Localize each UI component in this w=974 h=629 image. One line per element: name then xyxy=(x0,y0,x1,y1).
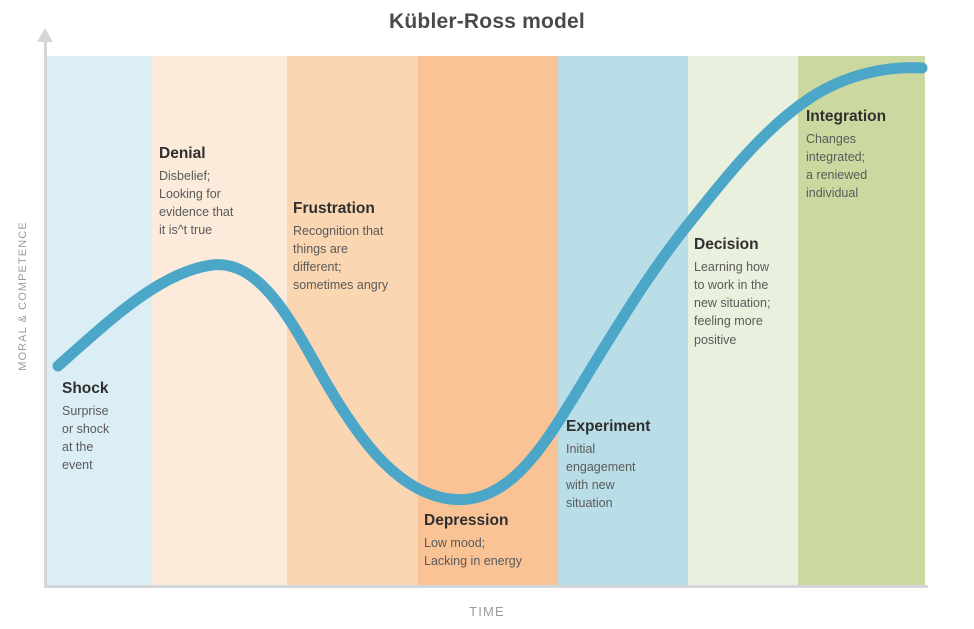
desc-line: or shock xyxy=(62,422,109,436)
desc-line: a reniewed xyxy=(806,168,867,182)
stage-block-depression: Depression Low mood; Lacking in energy xyxy=(424,512,559,570)
desc-line: different; xyxy=(293,260,341,274)
x-axis-line xyxy=(44,585,928,588)
stage-desc-depression: Low mood; Lacking in energy xyxy=(424,534,559,571)
stage-desc-denial: Disbelief; Looking for evidence that it … xyxy=(159,167,284,240)
desc-line: new situation; xyxy=(694,296,770,310)
kubler-ross-diagram: Kübler-Ross model MORAL & COMPETENCE TIM… xyxy=(0,0,974,629)
desc-line: situation xyxy=(566,496,613,510)
stage-heading-integration: Integration xyxy=(806,108,916,127)
desc-line: things are xyxy=(293,242,348,256)
stage-block-decision: Decision Learning how to work in the new… xyxy=(694,236,799,349)
stage-heading-denial: Denial xyxy=(159,145,284,164)
stage-desc-decision: Learning how to work in the new situatio… xyxy=(694,258,799,349)
stage-block-experiment: Experiment Initial engagement with new s… xyxy=(566,418,681,513)
y-axis-line xyxy=(44,40,47,588)
desc-line: Disbelief; xyxy=(159,169,210,183)
stage-heading-shock: Shock xyxy=(62,380,147,399)
desc-line: integrated; xyxy=(806,150,865,164)
desc-line: Surprise xyxy=(62,404,109,418)
desc-line: Lacking in energy xyxy=(424,554,522,568)
band-shock xyxy=(47,56,152,585)
desc-line: individual xyxy=(806,186,858,200)
y-axis-arrow-icon xyxy=(37,28,53,42)
desc-line: Learning how xyxy=(694,260,769,274)
stage-block-denial: Denial Disbelief; Looking for evidence t… xyxy=(159,145,284,240)
desc-line: it is^t true xyxy=(159,223,212,237)
stage-block-integration: Integration Changes integrated; a reniew… xyxy=(806,108,916,203)
stage-block-shock: Shock Surprise or shock at the event xyxy=(62,380,147,475)
stage-heading-depression: Depression xyxy=(424,512,559,531)
page-title: Kübler-Ross model xyxy=(0,10,974,34)
y-axis-label: MORAL & COMPETENCE xyxy=(17,211,29,381)
desc-line: Changes xyxy=(806,132,856,146)
stage-heading-frustration: Frustration xyxy=(293,200,423,219)
band-frustration xyxy=(287,56,418,585)
stage-desc-frustration: Recognition that things are different; s… xyxy=(293,222,423,295)
desc-line: Recognition that xyxy=(293,224,383,238)
stage-block-frustration: Frustration Recognition that things are … xyxy=(293,200,423,295)
desc-line: sometimes angry xyxy=(293,278,388,292)
desc-line: to work in the xyxy=(694,278,768,292)
desc-line: Initial xyxy=(566,442,595,456)
desc-line: Low mood; xyxy=(424,536,485,550)
desc-line: engagement xyxy=(566,460,636,474)
desc-line: evidence that xyxy=(159,205,233,219)
stage-heading-decision: Decision xyxy=(694,236,799,255)
x-axis-label: TIME xyxy=(0,604,974,619)
desc-line: positive xyxy=(694,333,736,347)
desc-line: with new xyxy=(566,478,615,492)
band-denial xyxy=(152,56,287,585)
band-depression xyxy=(418,56,558,585)
desc-line: event xyxy=(62,458,93,472)
stage-desc-experiment: Initial engagement with new situation xyxy=(566,440,681,513)
desc-line: feeling more xyxy=(694,314,763,328)
stage-desc-shock: Surprise or shock at the event xyxy=(62,402,147,475)
desc-line: Looking for xyxy=(159,187,221,201)
stage-desc-integration: Changes integrated; a reniewed individua… xyxy=(806,130,916,203)
desc-line: at the xyxy=(62,440,93,454)
stage-heading-experiment: Experiment xyxy=(566,418,681,437)
